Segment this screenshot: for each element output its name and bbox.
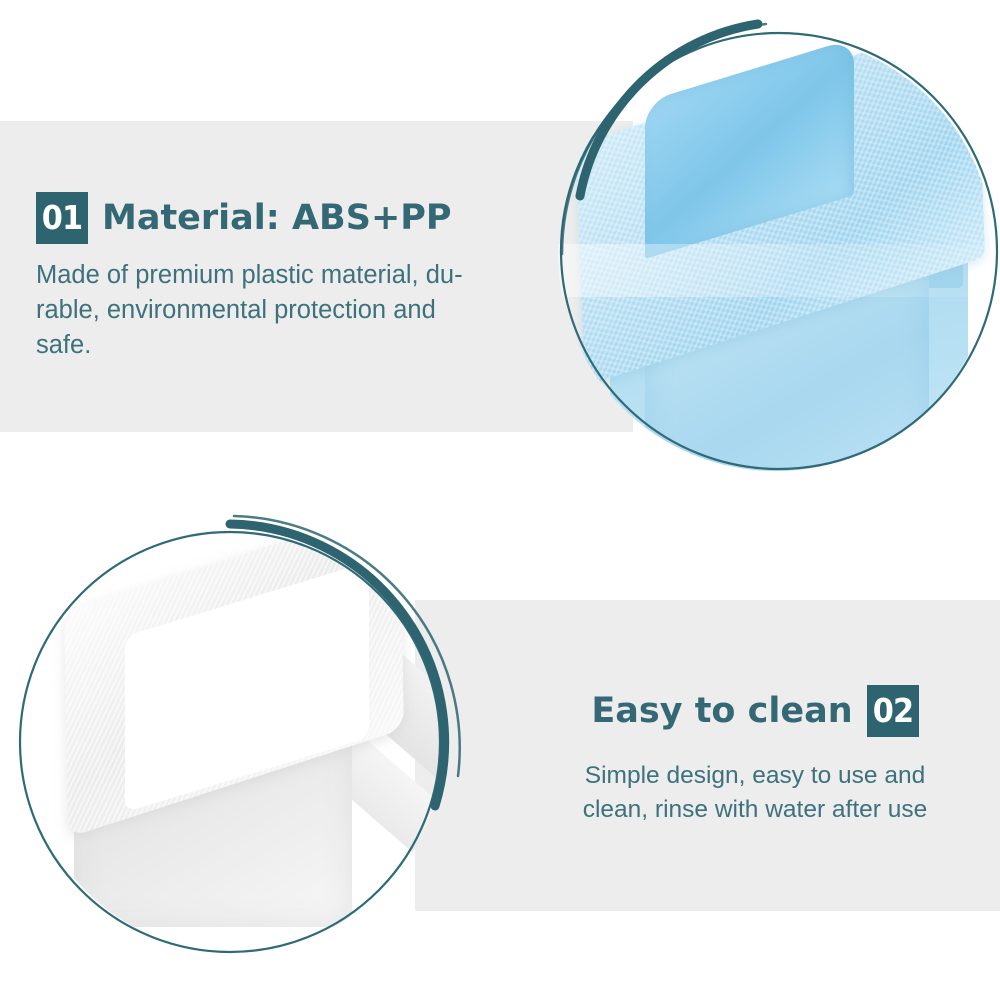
section-01-heading-row: 01 Material: ABS+PP (36, 192, 516, 244)
thick-accent-arc (230, 524, 445, 806)
section-02-heading-row: Easy to clean 02 (540, 685, 970, 737)
section-02-product-circle (0, 510, 470, 1000)
section-01-number-badge: 01 (36, 192, 88, 244)
section-02-circle-frame (0, 510, 470, 1000)
section-02-number-label: 02 (869, 685, 917, 737)
section-01-number-label: 01 (38, 192, 86, 244)
section-02-text-block: Easy to clean 02 Simple design, easy to … (540, 685, 970, 827)
section-01-text-block: 01 Material: ABS+PP Made of premium plas… (36, 192, 516, 364)
thick-accent-arc (580, 24, 758, 196)
section-01-title: Material: ABS+PP (102, 200, 452, 237)
infographic-canvas: 01 Material: ABS+PP Made of premium plas… (0, 0, 1000, 1000)
section-02-body-text: Simple design, easy to use and clean, ri… (540, 759, 970, 827)
section-01-circle-frame (540, 10, 1000, 490)
section-01-body-text: Made of premium plastic material, du- ra… (36, 258, 516, 364)
section-02-title: Easy to clean (591, 693, 852, 730)
thin-circle-outline (20, 532, 440, 952)
section-01-product-circle (540, 10, 1000, 490)
section-02-number-badge: 02 (867, 685, 919, 737)
